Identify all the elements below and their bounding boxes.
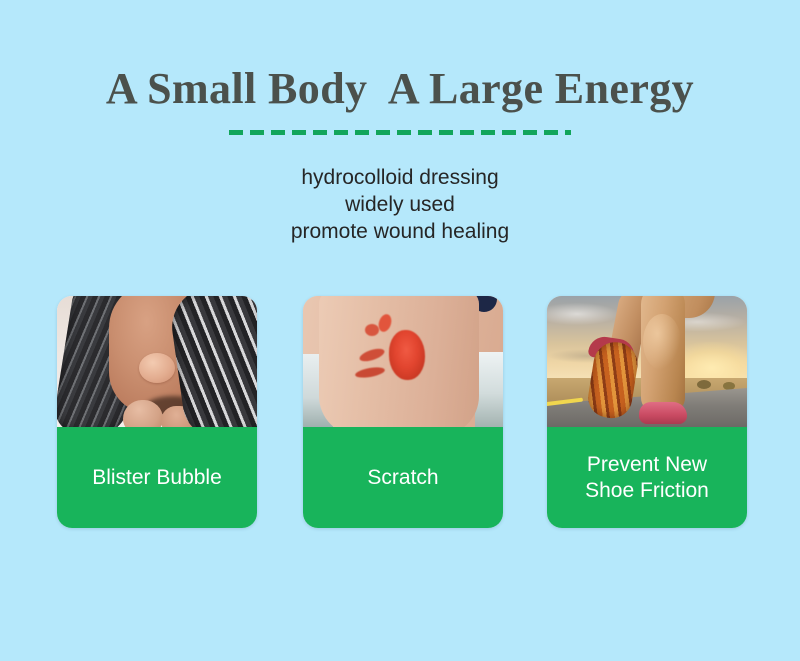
card-label: Prevent New Shoe Friction	[579, 452, 715, 504]
blister-photo	[57, 296, 257, 427]
feature-card-scratch[interactable]: Scratch	[303, 296, 503, 528]
card-label: Blister Bubble	[86, 465, 228, 491]
page-title: A Small Body A Large Energy	[0, 64, 800, 114]
feature-card-prevent-new-shoe-friction[interactable]: Prevent New Shoe Friction	[547, 296, 747, 528]
subtitle-line-2: widely used	[0, 191, 800, 218]
subtitle-line-3: promote wound healing	[0, 218, 800, 245]
runner-photo	[547, 296, 747, 427]
subtitle-block: hydrocolloid dressing widely used promot…	[0, 164, 800, 245]
card-label-band: Blister Bubble	[57, 427, 257, 528]
dashed-divider	[229, 130, 571, 135]
card-label: Scratch	[361, 465, 444, 491]
subtitle-line-1: hydrocolloid dressing	[0, 164, 800, 191]
scratch-photo	[303, 296, 503, 427]
card-label-band: Prevent New Shoe Friction	[547, 427, 747, 528]
feature-card-list: Blister Bubble Scratch	[57, 296, 747, 528]
promo-banner: A Small Body A Large Energy hydrocolloid…	[0, 0, 800, 661]
card-label-band: Scratch	[303, 427, 503, 528]
feature-card-blister-bubble[interactable]: Blister Bubble	[57, 296, 257, 528]
